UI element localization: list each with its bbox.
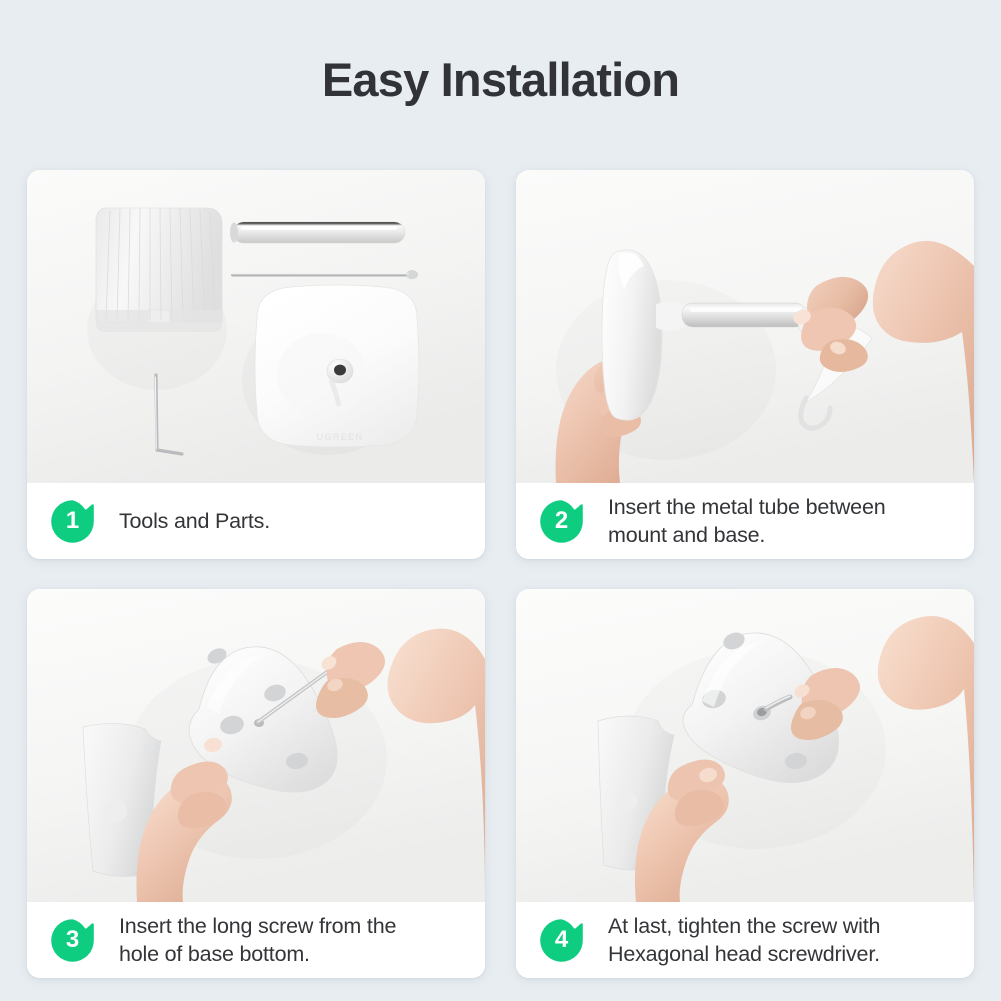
step-badge-3: 3 (50, 918, 95, 963)
caption-line: Insert the long screw from the (119, 914, 396, 938)
step-card-2: 2 Insert the metal tube between mount an… (516, 170, 974, 559)
metal-tube (656, 301, 806, 331)
step-text-2: Insert the metal tube between mount and … (608, 493, 885, 549)
step-badge-2: 2 (539, 499, 584, 544)
caption-line: hole of base bottom. (119, 940, 396, 968)
step-card-1: UGREEN 1 Tools and Parts. (27, 170, 485, 559)
step-number-2: 2 (539, 499, 584, 544)
step-caption-4: 4 At last, tighten the screw with Hexago… (516, 902, 974, 978)
step-caption-3: 3 Insert the long screw from the hole of… (27, 902, 485, 978)
step-number-4: 4 (539, 918, 584, 963)
step-card-3: 3 Insert the long screw from the hole of… (27, 589, 485, 978)
step-card-4: 4 At last, tighten the screw with Hexago… (516, 589, 974, 978)
step-badge-1: 1 (50, 499, 95, 544)
infographic-page: Easy Installation (0, 0, 1001, 1001)
caption-line: Hexagonal head screwdriver. (608, 940, 880, 968)
steps-grid: UGREEN 1 Tools and Parts. (27, 170, 974, 978)
step-text-1: Tools and Parts. (119, 507, 270, 535)
insert-long-screw-photo (27, 589, 485, 902)
step-caption-2: 2 Insert the metal tube between mount an… (516, 483, 974, 559)
caption-line: At last, tighten the screw with (608, 914, 880, 938)
caption-line: Tools and Parts. (119, 509, 270, 533)
metal-tube (230, 222, 405, 243)
step-caption-1: 1 Tools and Parts. (27, 483, 485, 559)
page-title: Easy Installation (0, 52, 1001, 108)
tighten-screw-photo (516, 589, 974, 902)
step-text-4: At last, tighten the screw with Hexagona… (608, 912, 880, 968)
step-number-3: 3 (50, 918, 95, 963)
caption-line: mount and base. (608, 521, 885, 549)
step-badge-4: 4 (539, 918, 584, 963)
brand-mark: UGREEN (317, 432, 364, 442)
caption-line: Insert the metal tube between (608, 495, 885, 519)
step-number-1: 1 (50, 499, 95, 544)
rounded-square-base: UGREEN (255, 285, 419, 447)
insert-metal-tube-photo (516, 170, 974, 483)
base-disc-side-view (602, 250, 662, 420)
step-text-3: Insert the long screw from the hole of b… (119, 912, 396, 968)
tools-and-parts-photo: UGREEN (27, 170, 485, 483)
